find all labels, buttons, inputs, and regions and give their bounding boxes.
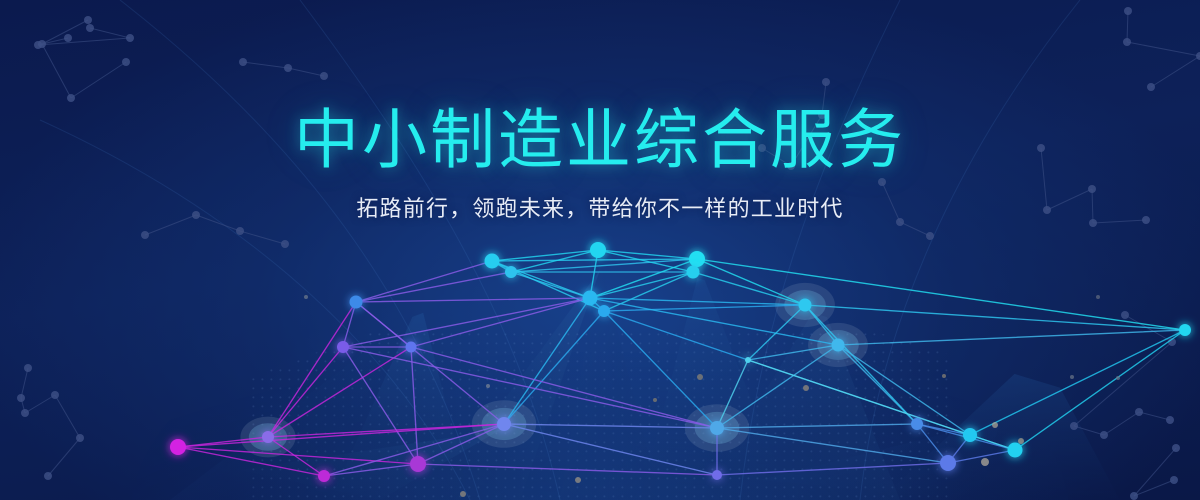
speck-layer bbox=[0, 0, 1200, 500]
hero-banner: 中小制造业综合服务 拓路前行，领跑未来，带给你不一样的工业时代 bbox=[0, 0, 1200, 500]
background-speck bbox=[1116, 376, 1120, 380]
background-speck bbox=[653, 398, 657, 402]
background-speck bbox=[460, 491, 466, 497]
background-speck bbox=[1018, 438, 1024, 444]
background-speck bbox=[992, 422, 998, 428]
background-speck bbox=[304, 295, 308, 299]
background-speck bbox=[1096, 295, 1100, 299]
background-speck bbox=[486, 384, 490, 388]
background-speck bbox=[1070, 375, 1074, 379]
background-speck bbox=[981, 458, 989, 466]
background-speck bbox=[942, 374, 946, 378]
background-speck bbox=[697, 374, 703, 380]
background-speck bbox=[575, 477, 581, 483]
background-speck bbox=[803, 385, 809, 391]
